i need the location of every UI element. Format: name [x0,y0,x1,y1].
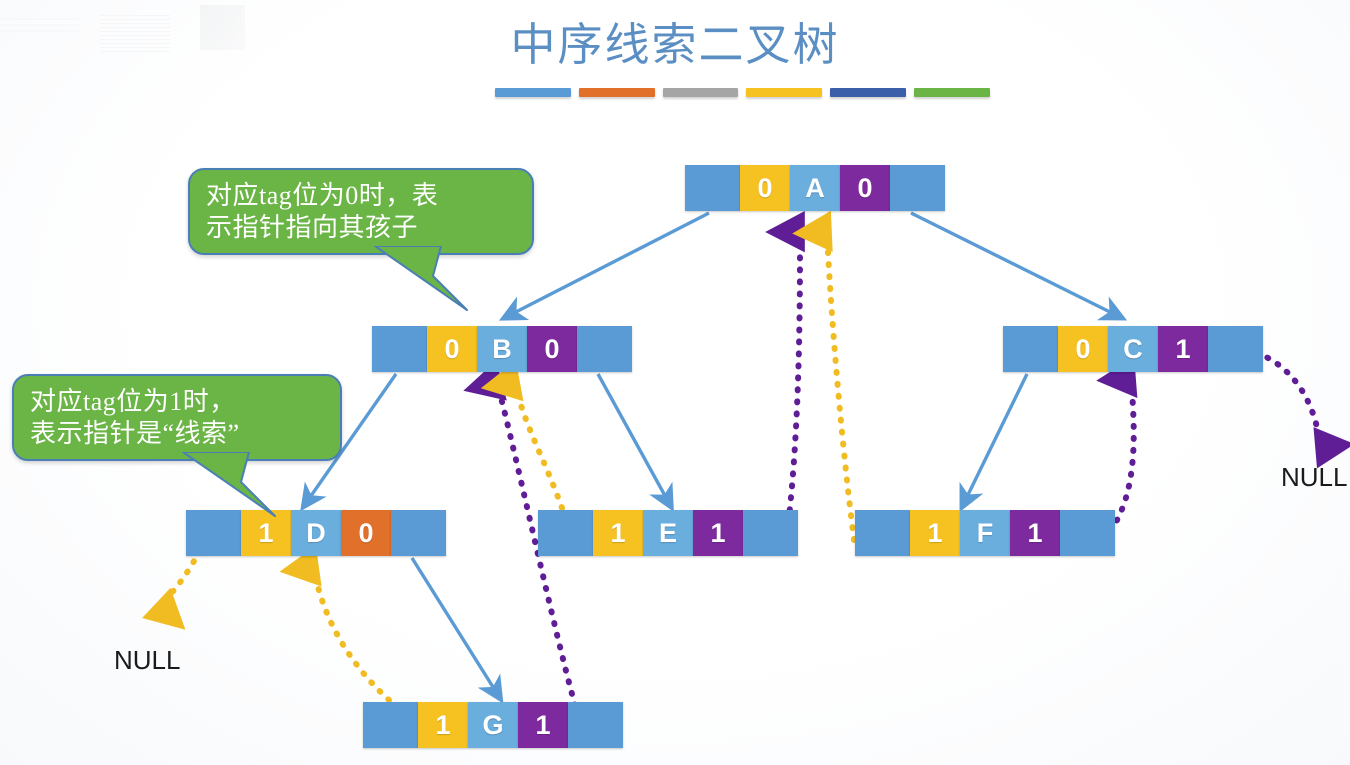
tree-node-e: 1E1 [538,510,798,556]
link-a-rchild-to-c [911,213,1118,316]
callout-tag0-tail [355,246,475,316]
node-c-lchild-pointer [1003,326,1058,372]
node-a-rtag: 0 [840,165,890,211]
callout-tag1-tail [163,452,283,522]
node-f-ltag: 1 [910,510,960,556]
callout-tag0: 对应tag位为0时，表示指针指向其孩子 [188,168,534,255]
node-g-ltag: 1 [418,702,468,748]
node-g-lchild-pointer [363,702,418,748]
node-a-data: A [790,165,840,211]
thread-e-lchild-to-b [515,382,562,508]
title-rule-bar-6 [914,88,990,97]
thread-e-rchild-to-a [787,232,800,534]
node-g-data: G [468,702,518,748]
tree-node-f: 1F1 [855,510,1115,556]
tree-node-c: 0C1 [1003,326,1263,372]
node-c-rtag: 1 [1158,326,1208,372]
callout-tag1-line-2: 表示指针是“线索” [30,418,326,450]
node-e-rtag: 1 [693,510,743,556]
node-e-data: E [643,510,693,556]
node-g-rchild-pointer [568,702,623,748]
node-b-ltag: 0 [427,326,477,372]
node-c-rchild-pointer [1208,326,1263,372]
node-c-ltag: 0 [1058,326,1108,372]
callout-tag1-line-1: 对应tag位为1时， [30,386,326,418]
title-rule-bar-4 [746,88,822,97]
link-c-lchild-to-f [964,374,1027,503]
node-a-rchild-pointer [890,165,945,211]
node-b-rtag: 0 [527,326,577,372]
link-b-rchild-to-e [598,374,669,503]
node-e-ltag: 1 [593,510,643,556]
callout-tag0-line-2: 示指针指向其孩子 [206,212,518,244]
tree-node-g: 1G1 [363,702,623,748]
title-rule-bar-3 [663,88,739,97]
callout-tag0-line-1: 对应tag位为0时，表 [206,180,518,212]
page-title: 中序线索二叉树 [0,8,1350,73]
link-a-lchild-to-b [508,213,709,316]
node-d-rtag: 0 [341,510,391,556]
node-e-rchild-pointer [743,510,798,556]
thread-g-lchild-to-d [314,567,389,700]
thread-g-rchild-to-b [497,382,585,740]
node-d-rchild-pointer [391,510,446,556]
node-e-lchild-pointer [538,510,593,556]
node-b-lchild-pointer [372,326,427,372]
node-f-rtag: 1 [1010,510,1060,556]
null-right: NULL [1281,462,1347,493]
node-g-rtag: 1 [518,702,568,748]
thread-f-lchild-to-a [827,232,854,540]
tree-node-b: 0B0 [372,326,632,372]
node-a-ltag: 0 [740,165,790,211]
node-f-data: F [960,510,1010,556]
callout-tag1: 对应tag位为1时，表示指针是“线索” [12,374,342,461]
link-d-rchild-to-g [412,558,498,695]
title-rule-bar-1 [495,88,571,97]
title-rule-bars [495,88,990,100]
node-f-lchild-pointer [855,510,910,556]
node-f-rchild-pointer [1060,510,1115,556]
node-b-data: B [477,326,527,372]
tree-node-a: 0A0 [685,165,945,211]
node-d-data: D [291,510,341,556]
node-b-rchild-pointer [577,326,632,372]
node-c-data: C [1108,326,1158,372]
node-a-lchild-pointer [685,165,740,211]
slide-canvas: 中序线索二叉树 [0,0,1350,765]
null-left: NULL [114,645,180,676]
title-rule-bar-5 [830,88,906,97]
title-rule-bar-2 [579,88,655,97]
